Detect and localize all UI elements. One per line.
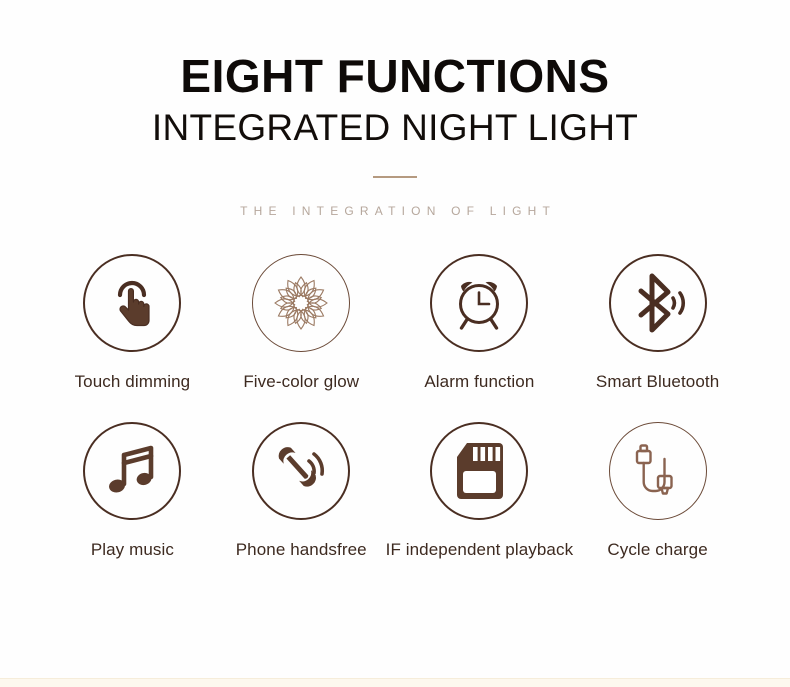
sd-card-icon — [453, 441, 505, 501]
icon-circle — [83, 422, 181, 520]
feature-label: Cycle charge — [607, 540, 707, 560]
icon-circle — [252, 254, 350, 352]
icon-circle — [252, 422, 350, 520]
feature-item-alarm-function[interactable]: Alarm function — [386, 254, 574, 392]
feature-label: IF independent playback — [386, 540, 574, 560]
icon-circle — [430, 254, 528, 352]
bottom-band — [0, 678, 790, 687]
feature-label: Five-color glow — [243, 372, 359, 392]
feature-label: Touch dimming — [75, 372, 191, 392]
icon-circle — [609, 422, 707, 520]
touch-hand-icon — [106, 275, 158, 331]
alarm-clock-icon — [448, 272, 510, 334]
feature-showcase-page: EIGHT FUNCTIONS INTEGRATED NIGHT LIGHT T… — [0, 0, 790, 687]
feature-item-play-music[interactable]: Play music — [48, 422, 217, 560]
flower-glow-icon — [269, 271, 333, 335]
page-subtitle: INTEGRATED NIGHT LIGHT — [0, 106, 790, 150]
feature-label: Alarm function — [424, 372, 534, 392]
title-divider — [373, 176, 417, 178]
music-note-icon — [102, 441, 162, 501]
feature-label: Phone handsfree — [236, 540, 367, 560]
feature-item-phone-handsfree[interactable]: Phone handsfree — [217, 422, 386, 560]
usb-cable-icon — [630, 442, 686, 500]
bluetooth-icon — [628, 272, 688, 334]
icon-circle — [609, 254, 707, 352]
feature-grid: Touch dimming — [0, 254, 790, 560]
divider-wrap — [0, 176, 790, 178]
feature-label: Smart Bluetooth — [596, 372, 719, 392]
feature-label: Play music — [91, 540, 174, 560]
feature-item-independent-playback[interactable]: IF independent playback — [386, 422, 574, 560]
icon-circle — [430, 422, 528, 520]
feature-item-five-color-glow[interactable]: Five-color glow — [217, 254, 386, 392]
feature-item-smart-bluetooth[interactable]: Smart Bluetooth — [573, 254, 742, 392]
feature-item-cycle-charge[interactable]: Cycle charge — [573, 422, 742, 560]
page-title: EIGHT FUNCTIONS — [0, 52, 790, 100]
tagline: THE INTEGRATION OF LIGHT — [0, 204, 790, 218]
icon-circle — [83, 254, 181, 352]
feature-item-touch-dimming[interactable]: Touch dimming — [48, 254, 217, 392]
header-block: EIGHT FUNCTIONS INTEGRATED NIGHT LIGHT T… — [0, 0, 790, 218]
phone-handset-icon — [271, 441, 331, 501]
